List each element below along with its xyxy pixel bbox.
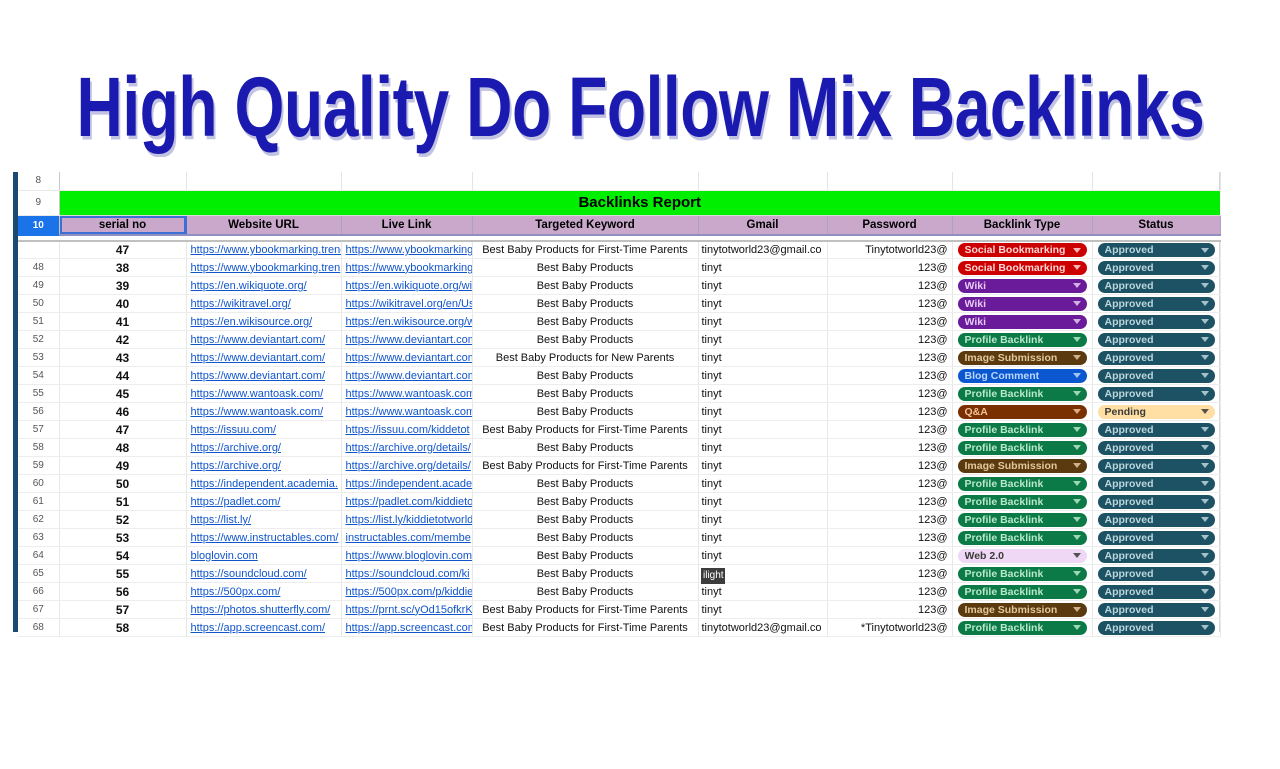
cell-keyword[interactable]: Best Baby Products — [472, 493, 698, 511]
row-header-56[interactable]: 56 — [18, 403, 59, 421]
status-chip-wrap[interactable]: Approved — [1093, 369, 1220, 383]
cell-status[interactable]: Approved — [1092, 241, 1220, 259]
backlink-type-chip[interactable]: Wiki — [958, 315, 1087, 329]
cell-status[interactable]: Approved — [1092, 277, 1220, 295]
row-header-57[interactable]: 57 — [18, 421, 59, 439]
cell-serial[interactable]: 43 — [59, 349, 186, 367]
chevron-down-icon[interactable] — [1201, 517, 1209, 522]
status-chip[interactable]: Approved — [1098, 495, 1215, 509]
status-chip-wrap[interactable]: Approved — [1093, 603, 1220, 617]
status-chip-wrap[interactable]: Approved — [1093, 567, 1220, 581]
cell-website-url[interactable]: https://www.deviantart.com/ — [186, 331, 341, 349]
chevron-down-icon[interactable] — [1201, 427, 1209, 432]
backlink-type-chip-wrap[interactable]: Image Submission — [953, 351, 1092, 365]
backlink-type-chip-wrap[interactable]: Profile Backlink — [953, 333, 1092, 347]
table-row[interactable]: 6353https://www.instructables.com/instru… — [18, 529, 1220, 547]
status-chip[interactable]: Approved — [1098, 531, 1215, 545]
chevron-down-icon[interactable] — [1073, 283, 1081, 288]
cell-password[interactable]: 123@ — [827, 295, 952, 313]
status-chip-wrap[interactable]: Approved — [1093, 495, 1220, 509]
cell-keyword[interactable]: Best Baby Products for First-Time Parent… — [472, 601, 698, 619]
chevron-down-icon[interactable] — [1201, 571, 1209, 576]
cell-backlink-type[interactable]: Wiki — [952, 277, 1092, 295]
empty-cell[interactable] — [186, 172, 341, 190]
live-link-link[interactable]: https://www.deviantart.com — [342, 370, 472, 382]
report-banner[interactable]: Backlinks Report — [59, 190, 1220, 215]
cell-live-link[interactable]: https://www.deviantart.com — [341, 331, 472, 349]
cell-backlink-type[interactable]: Profile Backlink — [952, 439, 1092, 457]
cell-status[interactable]: Approved — [1092, 385, 1220, 403]
cell-status[interactable]: Approved — [1092, 547, 1220, 565]
chevron-down-icon[interactable] — [1073, 607, 1081, 612]
table-row[interactable]: 6656https://500px.com/https://500px.com/… — [18, 583, 1220, 601]
live-link-link[interactable]: instructables.com/membe — [342, 532, 472, 544]
status-chip-wrap[interactable]: Approved — [1093, 351, 1220, 365]
cell-keyword[interactable]: Best Baby Products — [472, 547, 698, 565]
backlink-type-chip[interactable]: Profile Backlink — [958, 495, 1087, 509]
cell-serial[interactable]: 50 — [59, 475, 186, 493]
website-url-link[interactable]: https://www.ybookmarking.tren — [187, 262, 341, 274]
status-chip[interactable]: Approved — [1098, 621, 1215, 635]
status-chip[interactable]: Approved — [1098, 369, 1215, 383]
cell-status[interactable]: Approved — [1092, 565, 1220, 583]
cell-website-url[interactable]: https://soundcloud.com/ — [186, 565, 341, 583]
cell-website-url[interactable]: https://archive.org/ — [186, 457, 341, 475]
backlink-type-chip[interactable]: Profile Backlink — [958, 477, 1087, 491]
live-link-link[interactable]: https://archive.org/details/ — [342, 442, 472, 454]
live-link-link[interactable]: https://soundcloud.com/ki — [342, 568, 472, 580]
cell-keyword[interactable]: Best Baby Products — [472, 439, 698, 457]
backlink-type-chip-wrap[interactable]: Profile Backlink — [953, 567, 1092, 581]
table-row[interactable]: 5444https://www.deviantart.com/https://w… — [18, 367, 1220, 385]
cell-live-link[interactable]: https://archive.org/details/ — [341, 457, 472, 475]
status-chip[interactable]: Approved — [1098, 297, 1215, 311]
status-chip[interactable]: Approved — [1098, 243, 1215, 257]
status-chip-wrap[interactable]: Approved — [1093, 477, 1220, 491]
backlink-type-chip[interactable]: Social Bookmarking — [958, 261, 1087, 275]
cell-serial[interactable]: 47 — [59, 241, 186, 259]
cell-keyword[interactable]: Best Baby Products — [472, 385, 698, 403]
chevron-down-icon[interactable] — [1201, 301, 1209, 306]
column-header-gmail[interactable]: Gmail — [698, 215, 827, 235]
backlink-type-chip-wrap[interactable]: Web 2.0 — [953, 549, 1092, 563]
cell-gmail[interactable]: tinyt — [698, 475, 827, 493]
cell-status[interactable]: Approved — [1092, 583, 1220, 601]
cell-live-link[interactable]: instructables.com/membe — [341, 529, 472, 547]
cell-website-url[interactable]: https://photos.shutterfly.com/ — [186, 601, 341, 619]
row-header-8[interactable]: 8 — [18, 172, 59, 190]
table-row[interactable]: 5040https://wikitravel.org/https://wikit… — [18, 295, 1220, 313]
chevron-down-icon[interactable] — [1201, 463, 1209, 468]
status-chip-wrap[interactable]: Approved — [1093, 261, 1220, 275]
backlink-type-chip-wrap[interactable]: Wiki — [953, 315, 1092, 329]
row-header-59[interactable]: 59 — [18, 457, 59, 475]
status-chip[interactable]: Approved — [1098, 423, 1215, 437]
chevron-down-icon[interactable] — [1073, 301, 1081, 306]
status-chip[interactable]: Approved — [1098, 279, 1215, 293]
backlink-type-chip[interactable]: Image Submission — [958, 603, 1087, 617]
row-header-58[interactable]: 58 — [18, 439, 59, 457]
chevron-down-icon[interactable] — [1201, 248, 1209, 253]
cell-status[interactable]: Approved — [1092, 313, 1220, 331]
cell-gmail[interactable]: tinyt — [698, 385, 827, 403]
cell-password[interactable]: 123@ — [827, 421, 952, 439]
cell-gmail[interactable]: tinyt — [698, 349, 827, 367]
cell-serial[interactable]: 51 — [59, 493, 186, 511]
website-url-link[interactable]: bloglovin.com — [187, 550, 341, 562]
row-header-50[interactable]: 50 — [18, 295, 59, 313]
chevron-down-icon[interactable] — [1073, 499, 1081, 504]
status-chip-wrap[interactable]: Approved — [1093, 513, 1220, 527]
website-url-link[interactable]: https://padlet.com/ — [187, 496, 341, 508]
backlink-type-chip[interactable]: Wiki — [958, 297, 1087, 311]
backlink-type-chip[interactable]: Image Submission — [958, 351, 1087, 365]
live-link-link[interactable]: https://www.deviantart.com — [342, 352, 472, 364]
website-url-link[interactable]: https://500px.com/ — [187, 586, 341, 598]
backlink-type-chip[interactable]: Profile Backlink — [958, 621, 1087, 635]
cell-keyword[interactable]: Best Baby Products for First-Time Parent… — [472, 457, 698, 475]
cell-backlink-type[interactable]: Profile Backlink — [952, 511, 1092, 529]
table-row[interactable]: 5646https://www.wantoask.com/https://www… — [18, 403, 1220, 421]
status-chip[interactable]: Approved — [1098, 315, 1215, 329]
status-chip-wrap[interactable]: Approved — [1093, 333, 1220, 347]
row-header-63[interactable]: 63 — [18, 529, 59, 547]
cell-gmail[interactable]: tinyt — [698, 331, 827, 349]
cell-serial[interactable]: 52 — [59, 511, 186, 529]
chevron-down-icon[interactable] — [1201, 607, 1209, 612]
website-url-link[interactable]: https://archive.org/ — [187, 442, 341, 454]
live-link-link[interactable]: https://www.wantoask.com — [342, 388, 472, 400]
backlink-type-chip-wrap[interactable]: Profile Backlink — [953, 495, 1092, 509]
status-chip-wrap[interactable]: Approved — [1093, 243, 1220, 257]
cell-gmail[interactable]: tinyt — [698, 313, 827, 331]
cell-keyword[interactable]: Best Baby Products — [472, 259, 698, 277]
status-chip[interactable]: Approved — [1098, 567, 1215, 581]
cell-keyword[interactable]: Best Baby Products — [472, 475, 698, 493]
cell-serial[interactable]: 58 — [59, 619, 186, 637]
cell-live-link[interactable]: https://www.bloglovin.com — [341, 547, 472, 565]
row-header-55[interactable]: 55 — [18, 385, 59, 403]
cell-password[interactable]: *Tinytotworld23@ — [827, 619, 952, 637]
table-row[interactable]: 6858https://app.screencast.com/https://a… — [18, 619, 1220, 637]
backlink-type-chip-wrap[interactable]: Profile Backlink — [953, 477, 1092, 491]
cell-live-link[interactable]: https://app.screencast.com — [341, 619, 472, 637]
cell-status[interactable]: Approved — [1092, 421, 1220, 439]
cell-serial[interactable]: 44 — [59, 367, 186, 385]
backlink-type-chip[interactable]: Social Bookmarking — [958, 243, 1087, 257]
cell-password[interactable]: 123@ — [827, 493, 952, 511]
cell-keyword[interactable]: Best Baby Products for First-Time Parent… — [472, 421, 698, 439]
status-chip[interactable]: Approved — [1098, 351, 1215, 365]
cell-keyword[interactable]: Best Baby Products — [472, 367, 698, 385]
table-row[interactable]: 4838https://www.ybookmarking.trenhttps:/… — [18, 259, 1220, 277]
live-link-link[interactable]: https://www.ybookmarking — [342, 262, 472, 274]
cell-website-url[interactable]: https://padlet.com/ — [186, 493, 341, 511]
column-header-password[interactable]: Password — [827, 215, 952, 235]
row-header-60[interactable]: 60 — [18, 475, 59, 493]
cell-gmail[interactable]: tinyt — [698, 367, 827, 385]
cell-password[interactable]: 123@ — [827, 367, 952, 385]
website-url-link[interactable]: https://www.deviantart.com/ — [187, 334, 341, 346]
backlink-type-chip[interactable]: Profile Backlink — [958, 423, 1087, 437]
cell-password[interactable]: 123@ — [827, 259, 952, 277]
table-row[interactable]: 6454bloglovin.comhttps://www.bloglovin.c… — [18, 547, 1220, 565]
cell-live-link[interactable]: https://www.ybookmarking — [341, 241, 472, 259]
row-header-9[interactable]: 9 — [18, 190, 59, 215]
cell-serial[interactable]: 41 — [59, 313, 186, 331]
cell-backlink-type[interactable]: Social Bookmarking — [952, 259, 1092, 277]
status-chip[interactable]: Approved — [1098, 333, 1215, 347]
chevron-down-icon[interactable] — [1073, 535, 1081, 540]
cell-serial[interactable]: 56 — [59, 583, 186, 601]
backlink-type-chip[interactable]: Profile Backlink — [958, 531, 1087, 545]
chevron-down-icon[interactable] — [1073, 355, 1081, 360]
cell-password[interactable]: 123@ — [827, 457, 952, 475]
backlink-type-chip-wrap[interactable]: Profile Backlink — [953, 621, 1092, 635]
cell-password[interactable]: 123@ — [827, 583, 952, 601]
cell-gmail[interactable]: tinyt — [698, 439, 827, 457]
backlink-type-chip-wrap[interactable]: Social Bookmarking — [953, 261, 1092, 275]
cell-serial[interactable]: 46 — [59, 403, 186, 421]
cell-live-link[interactable]: https://www.deviantart.com — [341, 367, 472, 385]
chevron-down-icon[interactable] — [1201, 265, 1209, 270]
cell-status[interactable]: Approved — [1092, 511, 1220, 529]
cell-backlink-type[interactable]: Profile Backlink — [952, 583, 1092, 601]
status-chip-wrap[interactable]: Approved — [1093, 315, 1220, 329]
row-header-65[interactable]: 65 — [18, 565, 59, 583]
cell-live-link[interactable]: https://wikitravel.org/en/Us — [341, 295, 472, 313]
live-link-link[interactable]: https://issuu.com/kiddetot — [342, 424, 472, 436]
cell-live-link[interactable]: https://www.wantoask.com — [341, 403, 472, 421]
chevron-down-icon[interactable] — [1201, 445, 1209, 450]
chevron-down-icon[interactable] — [1201, 589, 1209, 594]
cell-website-url[interactable]: bloglovin.com — [186, 547, 341, 565]
status-chip-wrap[interactable]: Approved — [1093, 441, 1220, 455]
cell-website-url[interactable]: https://en.wikisource.org/ — [186, 313, 341, 331]
cell-website-url[interactable]: https://www.ybookmarking.trend — [186, 241, 341, 259]
row-header-51[interactable]: 51 — [18, 313, 59, 331]
cell-password[interactable]: 123@ — [827, 277, 952, 295]
table-row[interactable]: 5343https://www.deviantart.com/https://w… — [18, 349, 1220, 367]
website-url-link[interactable]: https://archive.org/ — [187, 460, 341, 472]
chevron-down-icon[interactable] — [1201, 409, 1209, 414]
cell-password[interactable]: 123@ — [827, 403, 952, 421]
row-header-54[interactable]: 54 — [18, 367, 59, 385]
live-link-link[interactable]: https://padlet.com/kiddieto — [342, 496, 472, 508]
cell-backlink-type[interactable]: Profile Backlink — [952, 619, 1092, 637]
table-row[interactable]: 5949https://archive.org/https://archive.… — [18, 457, 1220, 475]
cell-serial[interactable]: 54 — [59, 547, 186, 565]
cell-backlink-type[interactable]: Profile Backlink — [952, 493, 1092, 511]
cell-website-url[interactable]: https://app.screencast.com/ — [186, 619, 341, 637]
cell-status[interactable]: Approved — [1092, 367, 1220, 385]
status-chip-wrap[interactable]: Pending — [1093, 405, 1220, 419]
website-url-link[interactable]: https://www.wantoask.com/ — [187, 388, 341, 400]
website-url-link[interactable]: https://www.deviantart.com/ — [187, 352, 341, 364]
backlink-type-chip[interactable]: Profile Backlink — [958, 585, 1087, 599]
cell-password[interactable]: 123@ — [827, 529, 952, 547]
cell-serial[interactable]: 55 — [59, 565, 186, 583]
cell-backlink-type[interactable]: Wiki — [952, 295, 1092, 313]
cell-gmail[interactable]: tinyt — [698, 547, 827, 565]
website-url-link[interactable]: https://www.instructables.com/ — [187, 532, 341, 544]
column-header-live-link[interactable]: Live Link — [341, 215, 472, 235]
cell-backlink-type[interactable]: Web 2.0 — [952, 547, 1092, 565]
chevron-down-icon[interactable] — [1073, 571, 1081, 576]
cell-website-url[interactable]: https://www.wantoask.com/ — [186, 403, 341, 421]
status-chip-wrap[interactable]: Approved — [1093, 459, 1220, 473]
backlink-type-chip-wrap[interactable]: Image Submission — [953, 603, 1092, 617]
chevron-down-icon[interactable] — [1073, 481, 1081, 486]
cell-password[interactable]: 123@ — [827, 349, 952, 367]
backlink-type-chip-wrap[interactable]: Profile Backlink — [953, 387, 1092, 401]
cell-keyword[interactable]: Best Baby Products for New Parents — [472, 349, 698, 367]
cell-serial[interactable]: 49 — [59, 457, 186, 475]
chevron-down-icon[interactable] — [1073, 373, 1081, 378]
cell-status[interactable]: Approved — [1092, 493, 1220, 511]
row-header-53[interactable]: 53 — [18, 349, 59, 367]
chevron-down-icon[interactable] — [1201, 499, 1209, 504]
table-row[interactable]: 6252https://list.ly/https://list.ly/kidd… — [18, 511, 1220, 529]
cell-live-link[interactable]: https://www.deviantart.com — [341, 349, 472, 367]
cell-gmail[interactable]: tinyt — [698, 529, 827, 547]
cell-website-url[interactable]: https://independent.academia. — [186, 475, 341, 493]
live-link-link[interactable]: https://500px.com/p/kiddie — [342, 586, 472, 598]
live-link-link[interactable]: https://independent.acade — [342, 478, 472, 490]
status-chip-wrap[interactable]: Approved — [1093, 387, 1220, 401]
website-url-link[interactable]: https://en.wikisource.org/ — [187, 316, 341, 328]
cell-gmail[interactable]: tinytotworld23@gmail.co — [698, 241, 827, 259]
website-url-link[interactable]: https://app.screencast.com/ — [187, 622, 341, 634]
cell-website-url[interactable]: https://500px.com/ — [186, 583, 341, 601]
table-row[interactable]: 6555https://soundcloud.com/https://sound… — [18, 565, 1220, 583]
cell-serial[interactable]: 48 — [59, 439, 186, 457]
chevron-down-icon[interactable] — [1201, 373, 1209, 378]
row-header-61[interactable]: 61 — [18, 493, 59, 511]
backlink-type-chip[interactable]: Blog Comment — [958, 369, 1087, 383]
cell-status[interactable]: Approved — [1092, 295, 1220, 313]
cell-password[interactable]: Tinytotworld23@ — [827, 241, 952, 259]
backlink-type-chip-wrap[interactable]: Profile Backlink — [953, 513, 1092, 527]
backlink-type-chip[interactable]: Profile Backlink — [958, 387, 1087, 401]
cell-website-url[interactable]: https://www.ybookmarking.tren — [186, 259, 341, 277]
column-header-status[interactable]: Status — [1092, 215, 1220, 235]
row-header-66[interactable]: 66 — [18, 583, 59, 601]
backlink-type-chip[interactable]: Profile Backlink — [958, 567, 1087, 581]
chevron-down-icon[interactable] — [1201, 553, 1209, 558]
cell-live-link[interactable]: https://padlet.com/kiddieto — [341, 493, 472, 511]
website-url-link[interactable]: https://www.deviantart.com/ — [187, 370, 341, 382]
chevron-down-icon[interactable] — [1073, 625, 1081, 630]
backlink-type-chip[interactable]: Profile Backlink — [958, 333, 1087, 347]
cell-status[interactable]: Approved — [1092, 331, 1220, 349]
row-header-64[interactable]: 64 — [18, 547, 59, 565]
cell-live-link[interactable]: https://independent.acade — [341, 475, 472, 493]
cell-serial[interactable]: 57 — [59, 601, 186, 619]
status-chip[interactable]: Approved — [1098, 441, 1215, 455]
status-chip-wrap[interactable]: Approved — [1093, 423, 1220, 437]
website-url-link[interactable]: https://list.ly/ — [187, 514, 341, 526]
cell-status[interactable]: Approved — [1092, 457, 1220, 475]
cell-website-url[interactable]: https://wikitravel.org/ — [186, 295, 341, 313]
row-header-48[interactable]: 48 — [18, 259, 59, 277]
backlink-type-chip-wrap[interactable]: Wiki — [953, 297, 1092, 311]
backlink-type-chip-wrap[interactable]: Q&A — [953, 405, 1092, 419]
cell-serial[interactable]: 40 — [59, 295, 186, 313]
chevron-down-icon[interactable] — [1073, 553, 1081, 558]
cell-live-link[interactable]: https://prnt.sc/yOd15ofkrK — [341, 601, 472, 619]
cell-website-url[interactable]: https://www.deviantart.com/ — [186, 349, 341, 367]
status-chip[interactable]: Approved — [1098, 513, 1215, 527]
chevron-down-icon[interactable] — [1073, 589, 1081, 594]
status-chip[interactable]: Approved — [1098, 477, 1215, 491]
cell-status[interactable]: Approved — [1092, 439, 1220, 457]
table-row[interactable]: 6050https://independent.academia.https:/… — [18, 475, 1220, 493]
chevron-down-icon[interactable] — [1073, 517, 1081, 522]
backlink-type-chip[interactable]: Q&A — [958, 405, 1087, 419]
empty-cell[interactable] — [59, 172, 186, 190]
table-row[interactable]: 5242https://www.deviantart.com/https://w… — [18, 331, 1220, 349]
chevron-down-icon[interactable] — [1201, 625, 1209, 630]
live-link-link[interactable]: https://archive.org/details/ — [342, 460, 472, 472]
table-row[interactable]: 5747https://issuu.com/https://issuu.com/… — [18, 421, 1220, 439]
live-link-link[interactable]: https://app.screencast.com — [342, 622, 472, 634]
cell-backlink-type[interactable]: Blog Comment — [952, 367, 1092, 385]
cell-backlink-type[interactable]: Image Submission — [952, 457, 1092, 475]
website-url-link[interactable]: https://www.wantoask.com/ — [187, 406, 341, 418]
table-row[interactable]: 5545https://www.wantoask.com/https://www… — [18, 385, 1220, 403]
website-url-link[interactable]: https://soundcloud.com/ — [187, 568, 341, 580]
table-row[interactable]: 5141https://en.wikisource.org/https://en… — [18, 313, 1220, 331]
cell-keyword[interactable]: Best Baby Products — [472, 313, 698, 331]
cell-status[interactable]: Approved — [1092, 475, 1220, 493]
row-header-68[interactable]: 68 — [18, 619, 59, 637]
status-chip-wrap[interactable]: Approved — [1093, 621, 1220, 635]
backlink-type-chip-wrap[interactable]: Social Bookmarking — [953, 243, 1092, 257]
cell-password[interactable]: 123@ — [827, 547, 952, 565]
chevron-down-icon[interactable] — [1073, 248, 1081, 253]
empty-cell[interactable] — [472, 172, 698, 190]
cell-gmail[interactable]: tinyt — [698, 493, 827, 511]
backlink-type-chip-wrap[interactable]: Blog Comment — [953, 369, 1092, 383]
cell-gmail[interactable]: tinyt — [698, 295, 827, 313]
cell-website-url[interactable]: https://issuu.com/ — [186, 421, 341, 439]
cell-status[interactable]: Approved — [1092, 259, 1220, 277]
cell-status[interactable]: Approved — [1092, 349, 1220, 367]
chevron-down-icon[interactable] — [1201, 337, 1209, 342]
chevron-down-icon[interactable] — [1073, 409, 1081, 414]
column-header-serial-no[interactable]: serial no — [59, 215, 186, 235]
backlink-type-chip-wrap[interactable]: Profile Backlink — [953, 585, 1092, 599]
cell-live-link[interactable]: https://archive.org/details/ — [341, 439, 472, 457]
cell-serial[interactable]: 53 — [59, 529, 186, 547]
cell-live-link[interactable]: https://en.wikisource.org/w — [341, 313, 472, 331]
cell-backlink-type[interactable]: Wiki — [952, 313, 1092, 331]
cell-keyword[interactable]: Best Baby Products — [472, 583, 698, 601]
chevron-down-icon[interactable] — [1073, 319, 1081, 324]
backlink-type-chip[interactable]: Web 2.0 — [958, 549, 1087, 563]
empty-cell[interactable] — [698, 172, 827, 190]
cell-backlink-type[interactable]: Social Bookmarking — [952, 241, 1092, 259]
cell-password[interactable]: 123@ — [827, 475, 952, 493]
cell-password[interactable]: 123@ — [827, 511, 952, 529]
cell-keyword[interactable]: Best Baby Products — [472, 511, 698, 529]
cell-gmail[interactable]: tinyt — [698, 421, 827, 439]
row-header-52[interactable]: 52 — [18, 331, 59, 349]
row-header-62[interactable]: 62 — [18, 511, 59, 529]
empty-cell[interactable] — [1092, 172, 1220, 190]
backlink-type-chip[interactable]: Wiki — [958, 279, 1087, 293]
